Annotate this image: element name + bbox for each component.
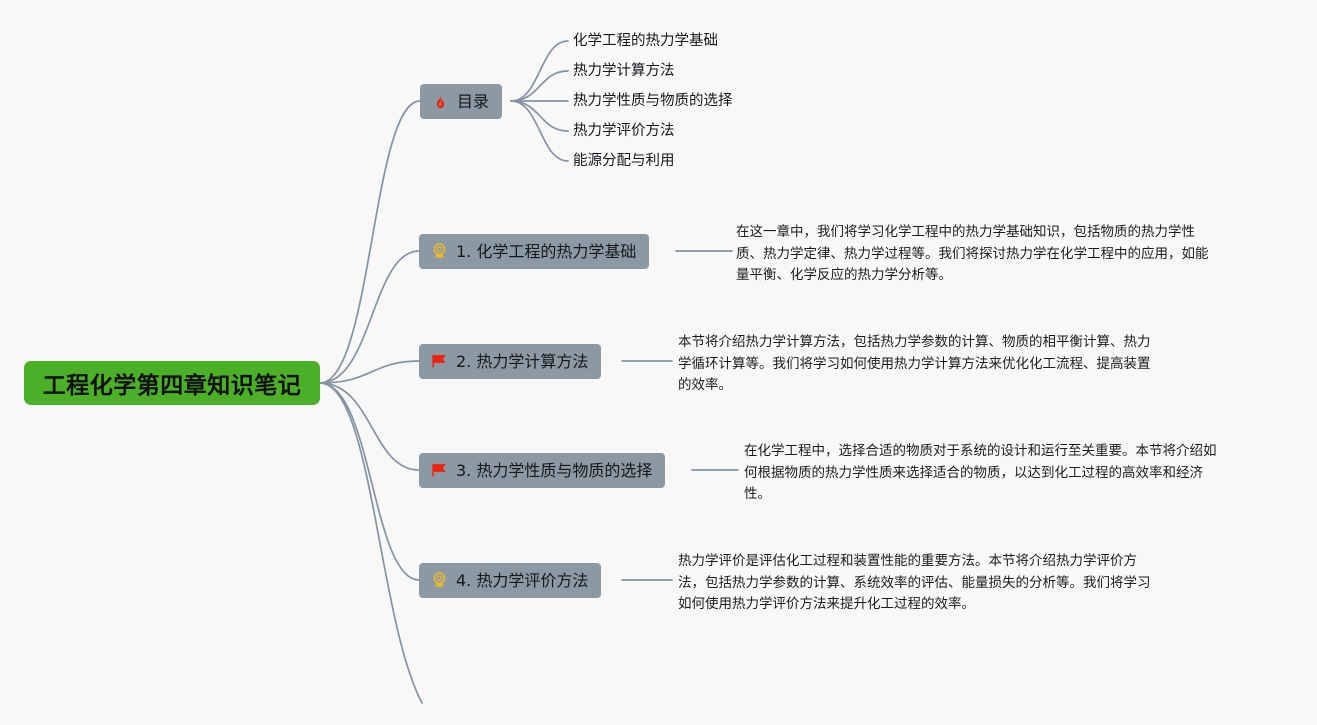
edge-root-to-section-3: [320, 383, 419, 470]
edge-toc-to-item-4: [511, 101, 568, 131]
section-node-4-label: 4. 热力学评价方法: [456, 573, 588, 589]
section-node-4[interactable]: 4. 热力学评价方法: [419, 563, 601, 598]
section-description-2: 本节将介绍热力学计算方法，包括热力学参数的计算、物质的相平衡计算、热力 学循环计…: [678, 332, 1198, 397]
toc-item-5[interactable]: 能源分配与利用: [573, 154, 675, 169]
edge-toc-to-item-5: [511, 101, 568, 161]
section-node-3[interactable]: 3. 热力学性质与物质的选择: [419, 453, 665, 488]
edge-root-to-toc: [320, 101, 420, 383]
root-node[interactable]: 工程化学第四章知识笔记: [24, 361, 320, 405]
toc-item-3[interactable]: 热力学性质与物质的选择: [573, 94, 733, 109]
edge-root-to-section-1: [320, 251, 419, 383]
edge-root-to-section-2: [320, 361, 419, 383]
toc-item-1[interactable]: 化学工程的热力学基础: [573, 34, 718, 49]
edge-root-to-section-4: [320, 383, 419, 580]
edge-toc-to-item-2: [511, 71, 568, 101]
section-description-1: 在这一章中，我们将学习化学工程中的热力学基础知识，包括物质的热力学性 质、热力学…: [736, 222, 1256, 287]
toc-node[interactable]: 目录: [420, 84, 502, 119]
section-node-2[interactable]: 2. 热力学计算方法: [419, 344, 601, 379]
toc-item-2[interactable]: 热力学计算方法: [573, 64, 675, 79]
section-node-1-label: 1. 化学工程的热力学基础: [456, 244, 636, 260]
rosette-icon: [430, 571, 449, 590]
section-description-4: 热力学评价是评估化工过程和装置性能的重要方法。本节将介绍热力学评价方 法，包括热…: [678, 551, 1198, 616]
edge-root-to-offscreen: [320, 383, 422, 703]
rosette-icon: [430, 242, 449, 261]
section-node-1[interactable]: 1. 化学工程的热力学基础: [419, 234, 649, 269]
red-flag-icon: [430, 352, 449, 371]
section-node-3-label: 3. 热力学性质与物质的选择: [456, 463, 652, 479]
section-node-2-label: 2. 热力学计算方法: [456, 354, 588, 370]
red-flag-icon: [430, 461, 449, 480]
mindmap-canvas: 工程化学第四章知识笔记 目录 化学工程的热力学基础 热力学计算方法 热力学性质与…: [0, 0, 1317, 725]
edge-toc-to-item-1: [511, 41, 568, 101]
section-description-3: 在化学工程中，选择合适的物质对于系统的设计和运行至关重要。本节将介绍如 何根据物…: [744, 441, 1260, 506]
flame-icon: [431, 92, 450, 111]
toc-item-4[interactable]: 热力学评价方法: [573, 124, 675, 139]
root-node-label: 工程化学第四章知识笔记: [43, 366, 302, 400]
toc-node-label: 目录: [457, 94, 489, 110]
